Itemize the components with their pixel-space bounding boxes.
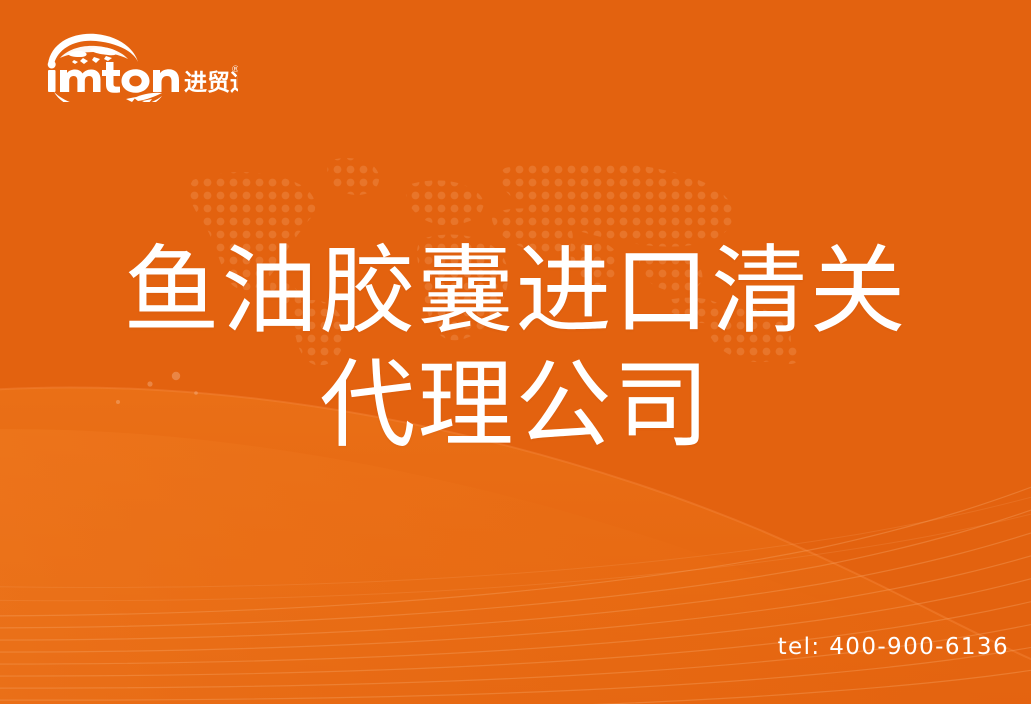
promo-banner: 进贸通 ® 鱼油胶囊进口清关 代理公司 tel: 400-900-6136 xyxy=(0,0,1031,704)
imton-logo[interactable]: 进贸通 ® xyxy=(38,30,238,102)
headline-line-1: 鱼油胶囊进口清关 xyxy=(0,232,1031,350)
logo-wordmark xyxy=(48,61,179,93)
headline-line-2: 代理公司 xyxy=(0,346,1031,464)
logo-chinese-name: 进贸通 xyxy=(184,70,238,96)
swoosh-plane-icon xyxy=(54,92,162,102)
contact-phone: tel: 400-900-6136 xyxy=(778,634,1009,660)
registered-trademark-icon: ® xyxy=(231,65,238,75)
headline: 鱼油胶囊进口清关 代理公司 xyxy=(0,232,1031,464)
globe-arc-icon xyxy=(48,34,138,64)
